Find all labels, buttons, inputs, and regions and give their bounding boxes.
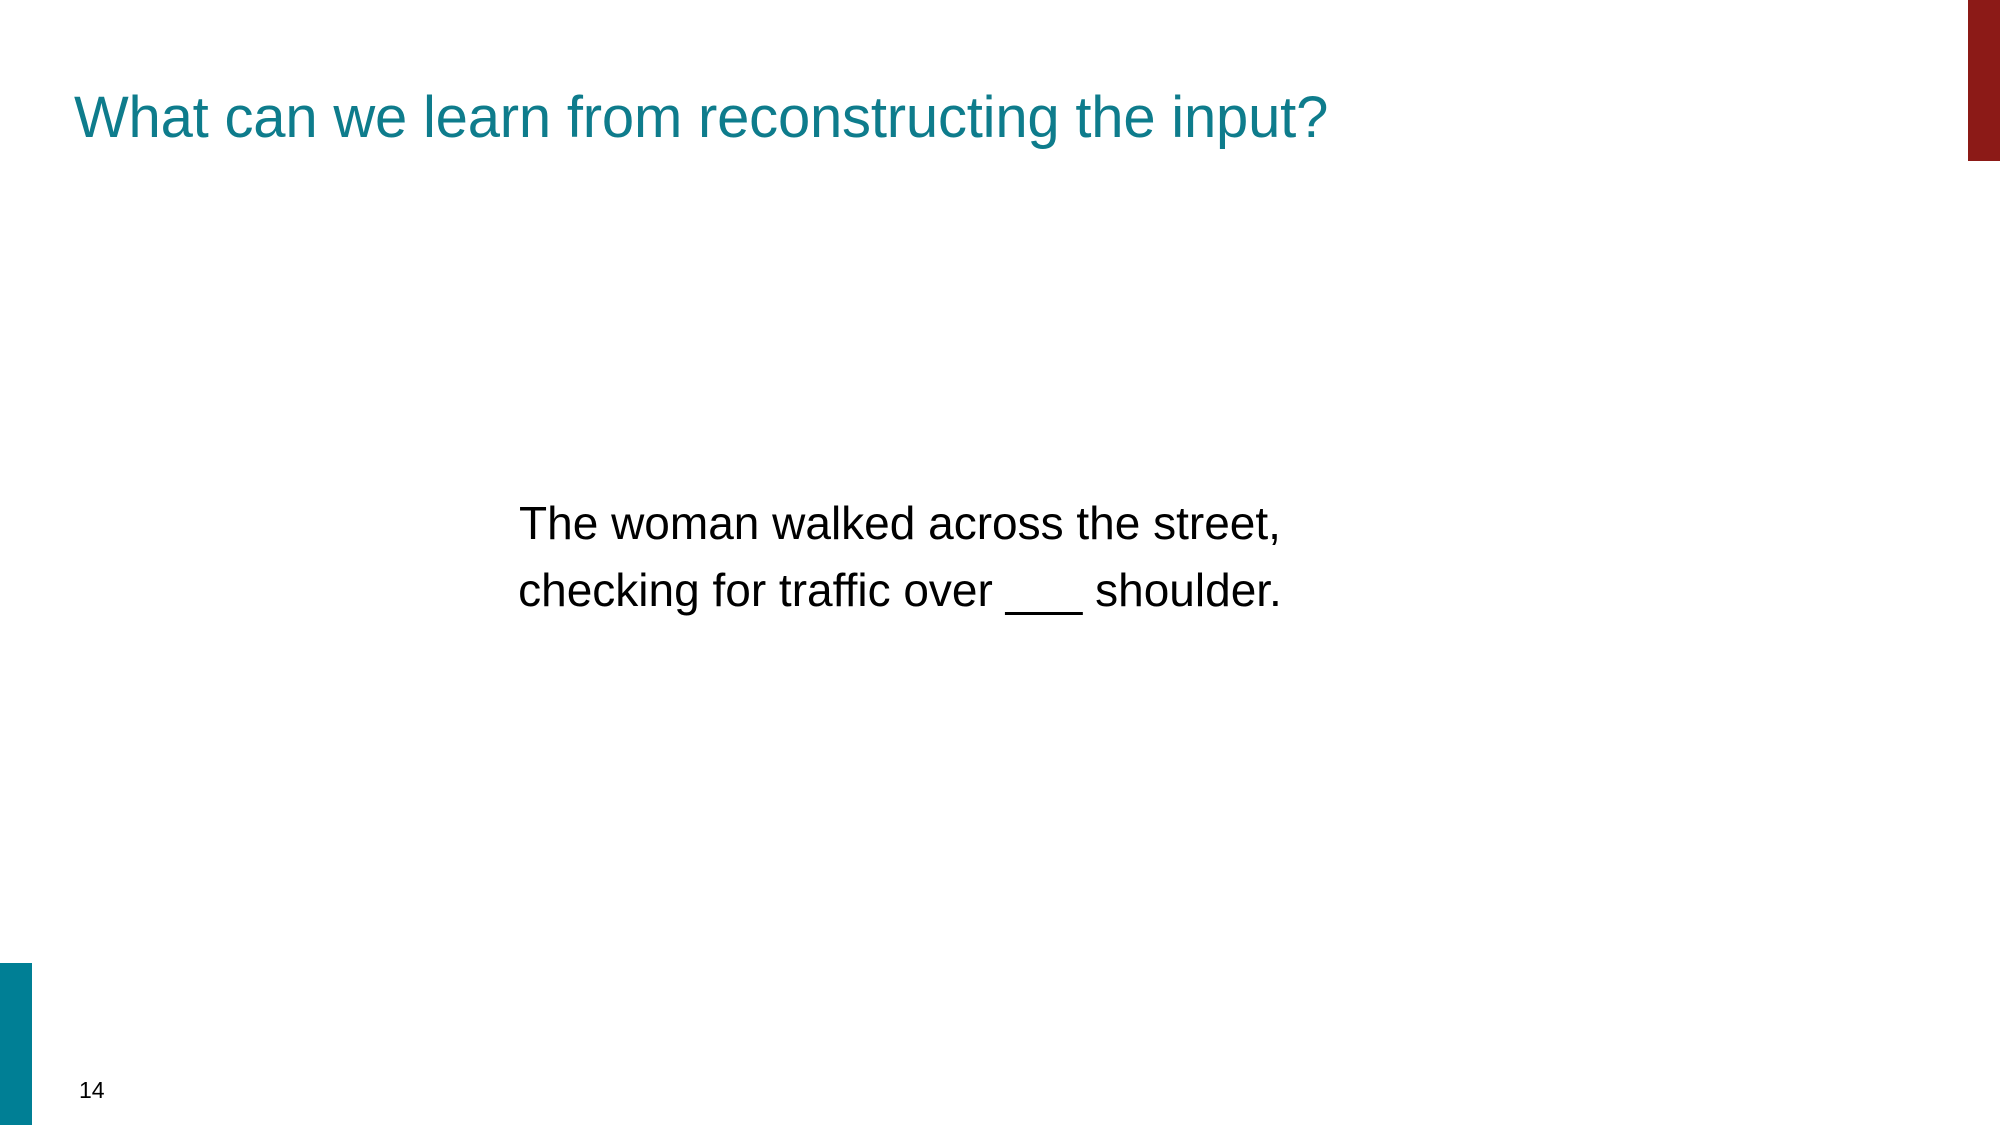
slide-body-text: The woman walked across the street, chec… — [300, 490, 1500, 623]
slide-title: What can we learn from reconstructing th… — [74, 85, 1774, 152]
body-text-line-2: checking for traffic over ___ shoulder. — [300, 557, 1500, 624]
teal-accent-bar — [0, 963, 32, 1125]
body-text-line-1: The woman walked across the street, — [300, 490, 1500, 557]
presentation-slide: What can we learn from reconstructing th… — [0, 0, 2000, 1125]
red-accent-bar — [1968, 0, 2000, 161]
page-number: 14 — [79, 1077, 105, 1105]
